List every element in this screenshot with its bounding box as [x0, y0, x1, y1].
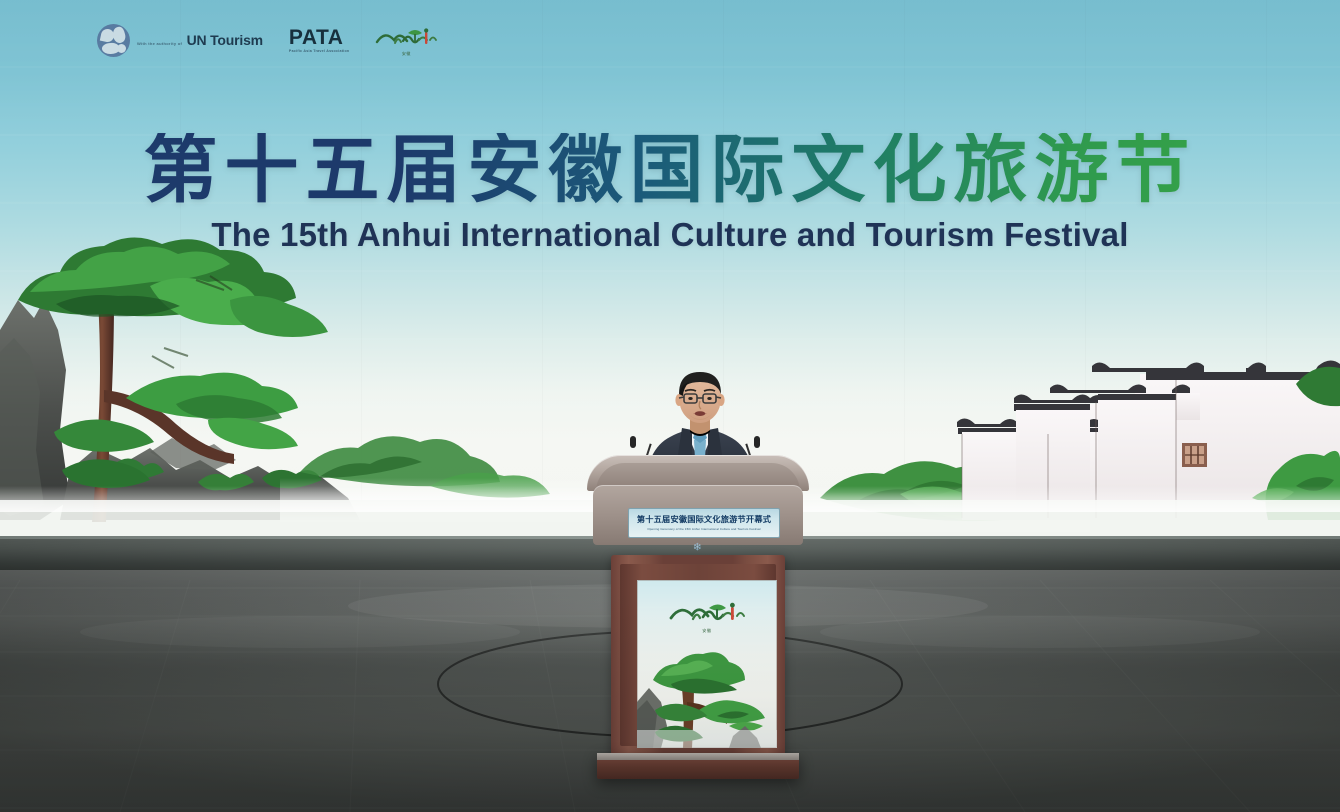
- podium-base: [597, 753, 799, 779]
- microphone-head-left: [630, 436, 636, 448]
- logo-pata: PATA Pacific Asia Travel Association: [289, 28, 349, 54]
- podium: 第十五届安徽国际文化旅游节开幕式 Opening Ceremony of the…: [587, 455, 809, 785]
- partner-logo-bar: With the authority of UN Tourism PATA Pa…: [97, 24, 437, 57]
- podium-emblem-icon: ❄️: [693, 543, 703, 551]
- podium-bevel: 安徽: [620, 564, 776, 746]
- logo-un-tourism: With the authority of UN Tourism: [97, 24, 263, 57]
- podium-sign-cn: 第十五届安徽国际文化旅游节开幕式: [637, 515, 771, 524]
- pata-tagline: Pacific Asia Travel Association: [289, 49, 349, 53]
- backdrop-title-en: The 15th Anhui International Culture and…: [0, 216, 1340, 254]
- panel-anhui-logo-icon: 安徽: [668, 600, 746, 634]
- anhui-brand-icon: [375, 24, 437, 54]
- logo-anhui: 安徽: [375, 24, 437, 57]
- panel-anhui-subtitle: 安徽: [668, 628, 746, 634]
- pata-wordmark-icon: PATA: [289, 28, 344, 48]
- podium-body: 安徽: [611, 555, 785, 755]
- microphone-head-right: [754, 436, 760, 448]
- un-tourism-tagline: With the authority of: [137, 41, 182, 46]
- podium-graphic-panel: 安徽: [637, 580, 777, 748]
- stage-photo: With the authority of UN Tourism PATA Pa…: [0, 0, 1340, 812]
- panel-pine-illustration: [637, 644, 777, 748]
- un-tourism-globe-icon: [97, 24, 130, 57]
- podium-sign-en: Opening Ceremony of the 15th Anhui Inter…: [647, 527, 760, 531]
- backdrop-title-cn: 第十五届安徽国际文化旅游节: [0, 133, 1340, 207]
- un-tourism-label: UN Tourism: [187, 32, 263, 48]
- podium-sign: 第十五届安徽国际文化旅游节开幕式 Opening Ceremony of the…: [628, 508, 780, 538]
